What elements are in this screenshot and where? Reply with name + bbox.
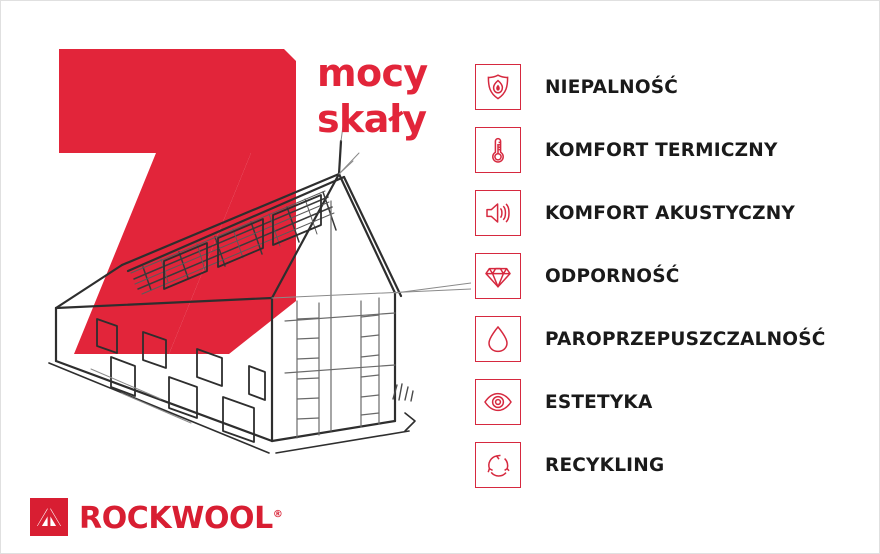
feature-label: RECYKLING bbox=[545, 455, 664, 476]
poster: mocy skały NIEPALNOŚĆ bbox=[0, 0, 880, 554]
feature-label: ODPORNOŚĆ bbox=[545, 266, 680, 287]
feature-list: NIEPALNOŚĆ KOMFORT TERMICZNY bbox=[475, 63, 875, 489]
headline: mocy skały bbox=[317, 50, 428, 142]
feature-item-recykling: RECYKLING bbox=[475, 441, 875, 489]
rockwool-logo: ROCKWOOL® bbox=[30, 498, 283, 536]
feature-item-odpornosc: ODPORNOŚĆ bbox=[475, 252, 875, 300]
feature-item-komfort-akustyczny: KOMFORT AKUSTYCZNY bbox=[475, 189, 875, 237]
feature-item-paroprzepuszczalnosc: PAROPRZEPUSZCZALNOŚĆ bbox=[475, 315, 875, 363]
rockwool-wordmark-text: ROCKWOOL bbox=[79, 501, 273, 536]
diamond-icon bbox=[475, 253, 521, 299]
rockwool-logo-mark bbox=[30, 498, 68, 536]
speaker-sound-icon bbox=[475, 190, 521, 236]
feature-label: ESTETYKA bbox=[545, 392, 653, 413]
fire-shield-icon bbox=[475, 64, 521, 110]
thermometer-icon bbox=[475, 127, 521, 173]
feature-item-niepalnosc: NIEPALNOŚĆ bbox=[475, 63, 875, 111]
feature-label: KOMFORT TERMICZNY bbox=[545, 140, 778, 161]
feature-item-komfort-termiczny: KOMFORT TERMICZNY bbox=[475, 126, 875, 174]
recycling-arrows-icon bbox=[475, 442, 521, 488]
feature-label: KOMFORT AKUSTYCZNY bbox=[545, 203, 795, 224]
rockwool-wordmark: ROCKWOOL® bbox=[79, 500, 283, 534]
eye-icon bbox=[475, 379, 521, 425]
rockwool-mark-glyph bbox=[35, 505, 63, 529]
headline-line-1: mocy bbox=[317, 50, 428, 96]
feature-item-estetyka: ESTETYKA bbox=[475, 378, 875, 426]
registered-trademark-icon: ® bbox=[273, 509, 283, 520]
feature-label: PAROPRZEPUSZCZALNOŚĆ bbox=[545, 329, 826, 350]
water-drop-icon bbox=[475, 316, 521, 362]
headline-line-2: skały bbox=[317, 96, 428, 142]
feature-label: NIEPALNOŚĆ bbox=[545, 77, 678, 98]
